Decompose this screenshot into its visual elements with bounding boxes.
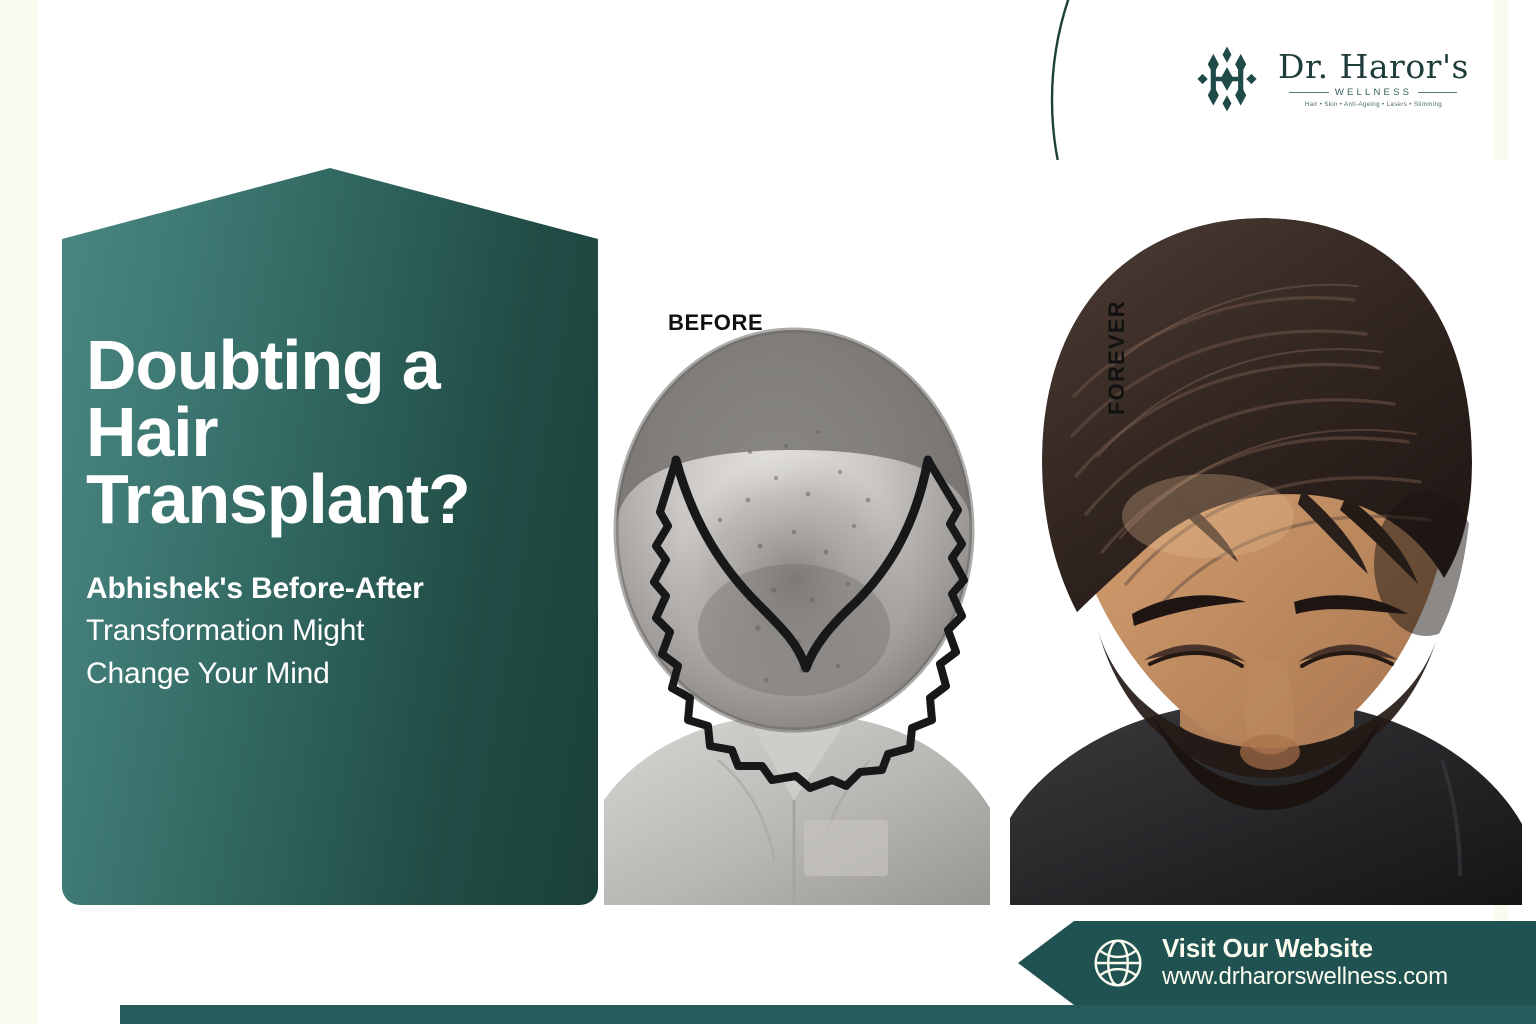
- subheadline-line-1: Abhishek's Before-After: [86, 568, 606, 611]
- globe-icon: [1092, 937, 1144, 989]
- logo-wellness-word: WELLNESS: [1335, 87, 1412, 98]
- headline-content: Doubting a Hair Transplant? Abhishek's B…: [86, 332, 606, 695]
- before-label: BEFORE: [668, 310, 763, 336]
- subheadline-line-3: Change Your Mind: [86, 653, 606, 696]
- logo-divider-rule: WELLNESS: [1289, 87, 1457, 98]
- headline-line-3: Transplant?: [86, 466, 606, 533]
- cta-title: Visit Our Website: [1162, 934, 1448, 963]
- after-photo: [1002, 160, 1536, 905]
- headline-line-1: Doubting a: [86, 332, 606, 399]
- visit-website-cta[interactable]: Visit Our Website www.drharorswellness.c…: [1018, 921, 1536, 1005]
- logo-brand-name: Dr. Haror's: [1278, 50, 1469, 84]
- page-title: Doubting a Hair Transplant?: [86, 332, 606, 534]
- brand-logo: Dr. Haror's WELLNESS Hair • Skin • Anti-…: [1190, 38, 1480, 120]
- subheadline-line-2: Transformation Might: [86, 610, 606, 653]
- headline-line-2: Hair: [86, 399, 606, 466]
- before-photo: [598, 160, 1066, 905]
- bottom-accent-bar: [120, 1005, 1536, 1024]
- before-after-photo-pair: [598, 160, 1536, 905]
- after-photo-image: [1002, 160, 1536, 905]
- logo-tagline: Hair • Skin • Anti-Ageing • Lasers • Sli…: [1305, 101, 1442, 108]
- cta-text-group: Visit Our Website www.drharorswellness.c…: [1162, 934, 1448, 991]
- cta-url: www.drharorswellness.com: [1162, 963, 1448, 991]
- left-cream-strip: [0, 0, 38, 1024]
- forever-label: FOREVER: [1104, 300, 1130, 415]
- before-photo-image: [598, 160, 1066, 905]
- diamond-h-monogram-icon: [1190, 42, 1264, 116]
- subheadline: Abhishek's Before-After Transformation M…: [86, 568, 606, 696]
